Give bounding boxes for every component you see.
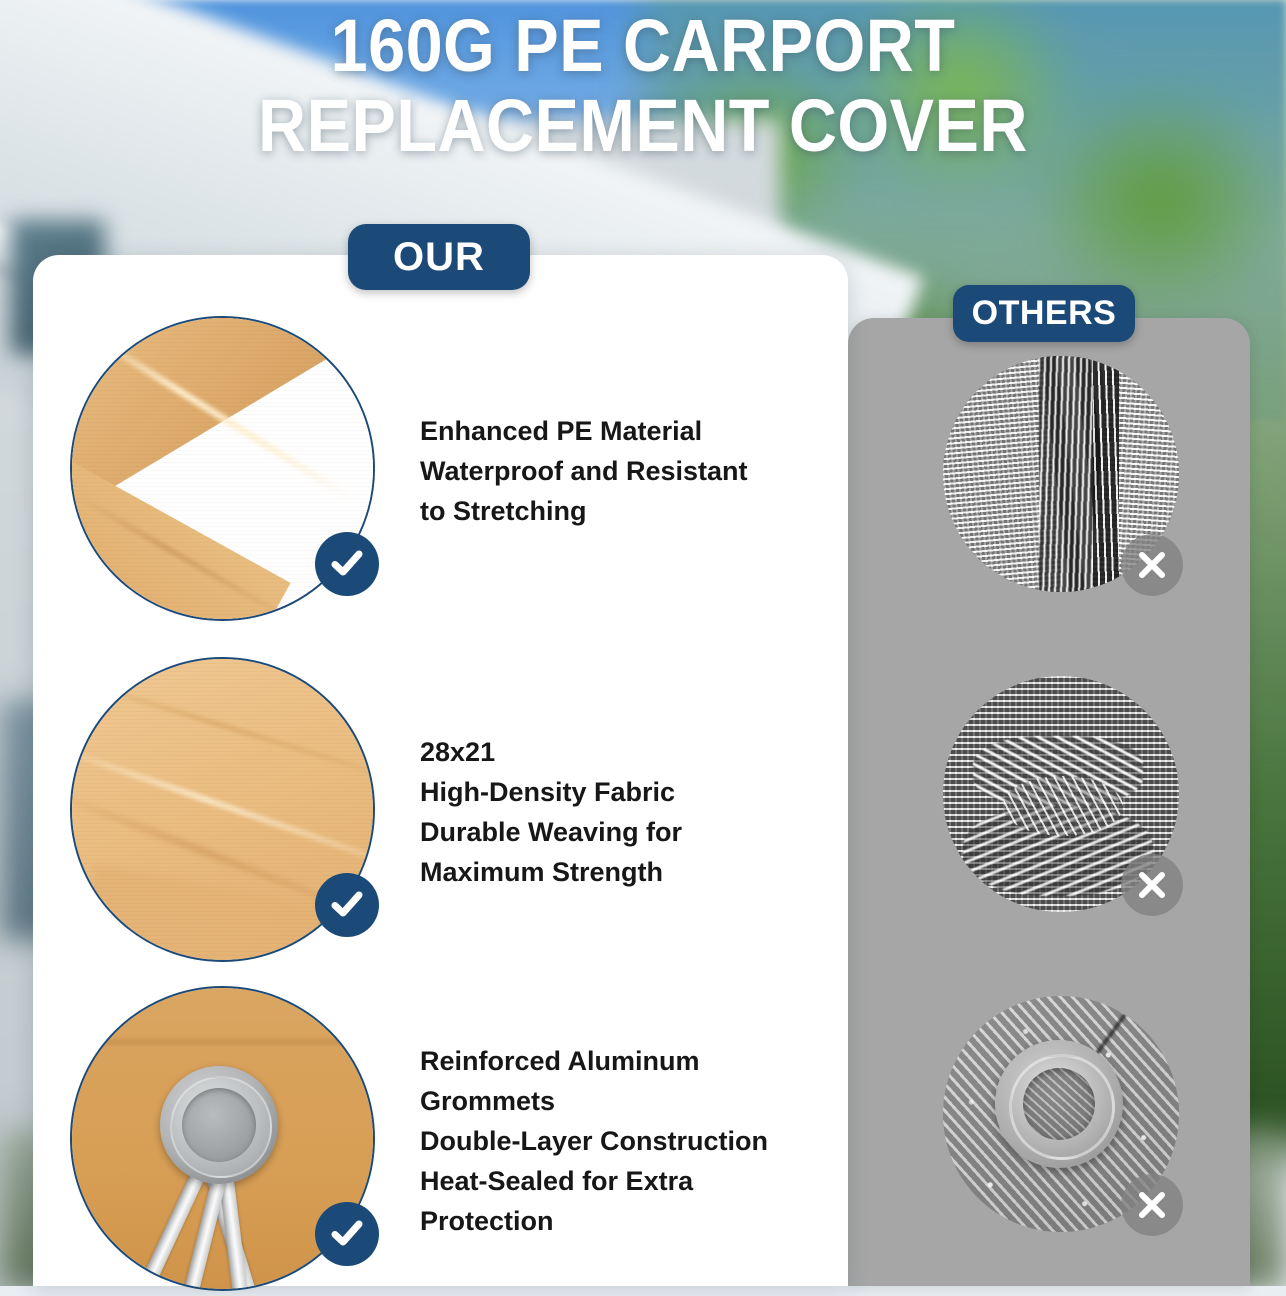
our-feature-3-line-4: Heat-Sealed for Extra	[420, 1161, 768, 1201]
our-feature-row-2: 28x21 High-Density Fabric Durable Weavin…	[70, 662, 830, 962]
torn-fray-strands	[1039, 356, 1093, 592]
others-item-3	[943, 996, 1179, 1232]
our-feature-1-line-3: to Stretching	[420, 491, 748, 531]
our-feature-3-image-wrap	[70, 986, 380, 1296]
others-item-2	[943, 676, 1179, 912]
page-title-line-1: 160G PE CARPORT	[64, 6, 1221, 86]
our-feature-1-text: Enhanced PE Material Waterproof and Resi…	[420, 411, 748, 531]
our-feature-3-text: Reinforced Aluminum Grommets Double-Laye…	[420, 1041, 768, 1241]
our-feature-3-line-2: Grommets	[420, 1081, 768, 1121]
check-icon	[315, 532, 379, 596]
fabric-seam	[72, 1040, 373, 1044]
our-feature-2-image-wrap	[70, 657, 380, 967]
our-feature-2-line-2: High-Density Fabric	[420, 772, 682, 812]
our-feature-2-text: 28x21 High-Density Fabric Durable Weavin…	[420, 732, 682, 892]
page-title-line-2: REPLACEMENT COVER	[64, 86, 1221, 166]
our-feature-row-1: Enhanced PE Material Waterproof and Resi…	[70, 318, 830, 623]
cross-icon	[1121, 1174, 1183, 1236]
our-feature-3-line-5: Protection	[420, 1201, 768, 1241]
torn-fray-strands-2	[1093, 356, 1119, 592]
our-feature-2-line-4: Maximum Strength	[420, 852, 682, 892]
page-title: 160G PE CARPORT REPLACEMENT COVER	[64, 6, 1221, 166]
check-icon	[315, 873, 379, 937]
check-icon	[315, 1202, 379, 1266]
cross-icon	[1121, 854, 1183, 916]
our-feature-1-image-wrap	[70, 316, 380, 626]
our-feature-3-line-1: Reinforced Aluminum	[420, 1041, 768, 1081]
cross-icon	[1121, 534, 1183, 596]
grommet-ring-inner	[182, 1088, 256, 1162]
our-badge: OUR	[348, 224, 530, 290]
our-feature-2-line-3: Durable Weaving for	[420, 812, 682, 852]
others-item-1	[943, 356, 1179, 592]
our-feature-2-line-1: 28x21	[420, 732, 682, 772]
our-feature-3-line-3: Double-Layer Construction	[420, 1121, 768, 1161]
our-feature-1-line-1: Enhanced PE Material	[420, 411, 748, 451]
our-feature-1-line-2: Waterproof and Resistant	[420, 451, 748, 491]
our-feature-row-3: Reinforced Aluminum Grommets Double-Laye…	[70, 995, 830, 1286]
burlap-loose-threads-3	[1003, 776, 1123, 836]
others-badge: OTHERS	[953, 285, 1135, 342]
